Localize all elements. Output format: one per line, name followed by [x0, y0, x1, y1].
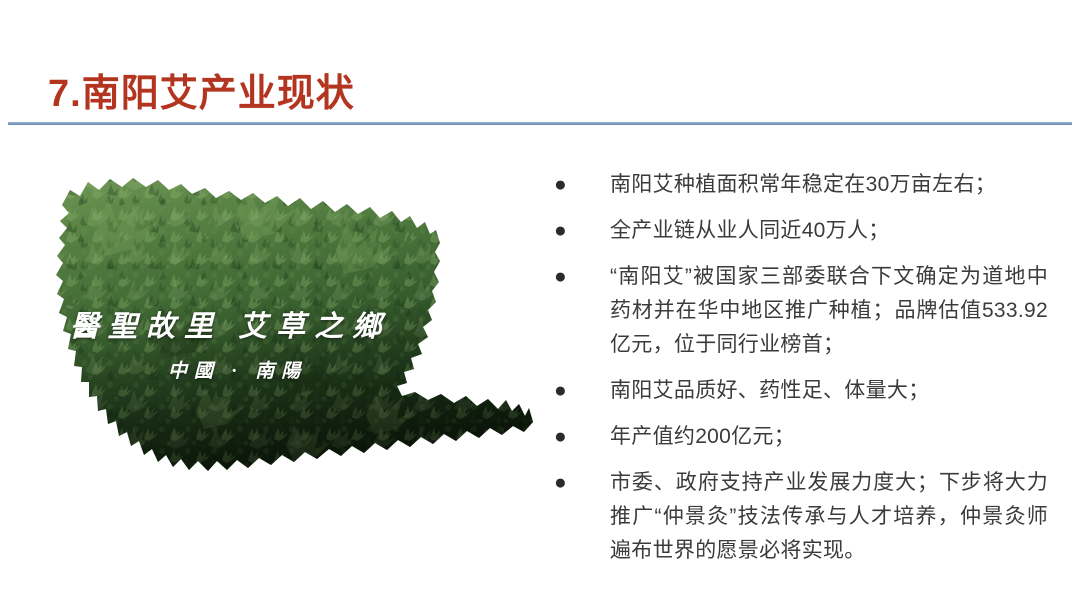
list-item: ● 市委、政府支持产业发展力度大；下步将大力推广“仲景灸”技法传承与人才培养，仲…	[548, 466, 1048, 568]
list-item-text: 市委、政府支持产业发展力度大；下步将大力推广“仲景灸”技法传承与人才培养，仲景灸…	[610, 466, 1048, 568]
bullet-marker-icon: ●	[548, 214, 610, 248]
nanyang-map-figure: 醫聖故里 艾草之鄉 中國 · 南陽	[36, 160, 536, 530]
map-foliage-fill	[36, 160, 536, 530]
content-bullet-list: ● 南阳艾种植面积常年稳定在30万亩左右； ● 全产业链从业人同近40万人； ●…	[548, 168, 1048, 580]
list-item: ● “南阳艾”被国家三部委联合下文确定为道地中药材并在华中地区推广种植；品牌估值…	[548, 260, 1048, 362]
bullet-marker-icon: ●	[548, 420, 610, 454]
nanyang-map-icon	[36, 160, 536, 530]
list-item: ● 南阳艾种植面积常年稳定在30万亩左右；	[548, 168, 1048, 202]
page-title: 7.南阳艾产业现状	[48, 73, 355, 117]
list-item-text: “南阳艾”被国家三部委联合下文确定为道地中药材并在华中地区推广种植；品牌估值53…	[610, 260, 1048, 362]
bullet-marker-icon: ●	[548, 374, 610, 408]
list-item: ● 年产值约200亿元；	[548, 420, 1048, 454]
list-item-text: 年产值约200亿元；	[610, 420, 1048, 454]
list-item-text: 南阳艾品质好、药性足、体量大；	[610, 374, 1048, 408]
bullet-marker-icon: ●	[548, 168, 610, 202]
list-item: ● 南阳艾品质好、药性足、体量大；	[548, 374, 1048, 408]
bullet-marker-icon: ●	[548, 466, 610, 500]
title-divider	[8, 122, 1072, 125]
bullet-marker-icon: ●	[548, 260, 610, 294]
list-item: ● 全产业链从业人同近40万人；	[548, 214, 1048, 248]
list-item-text: 南阳艾种植面积常年稳定在30万亩左右；	[610, 168, 1048, 202]
list-item-text: 全产业链从业人同近40万人；	[610, 214, 1048, 248]
slide-canvas: 7.南阳艾产业现状	[0, 0, 1080, 602]
